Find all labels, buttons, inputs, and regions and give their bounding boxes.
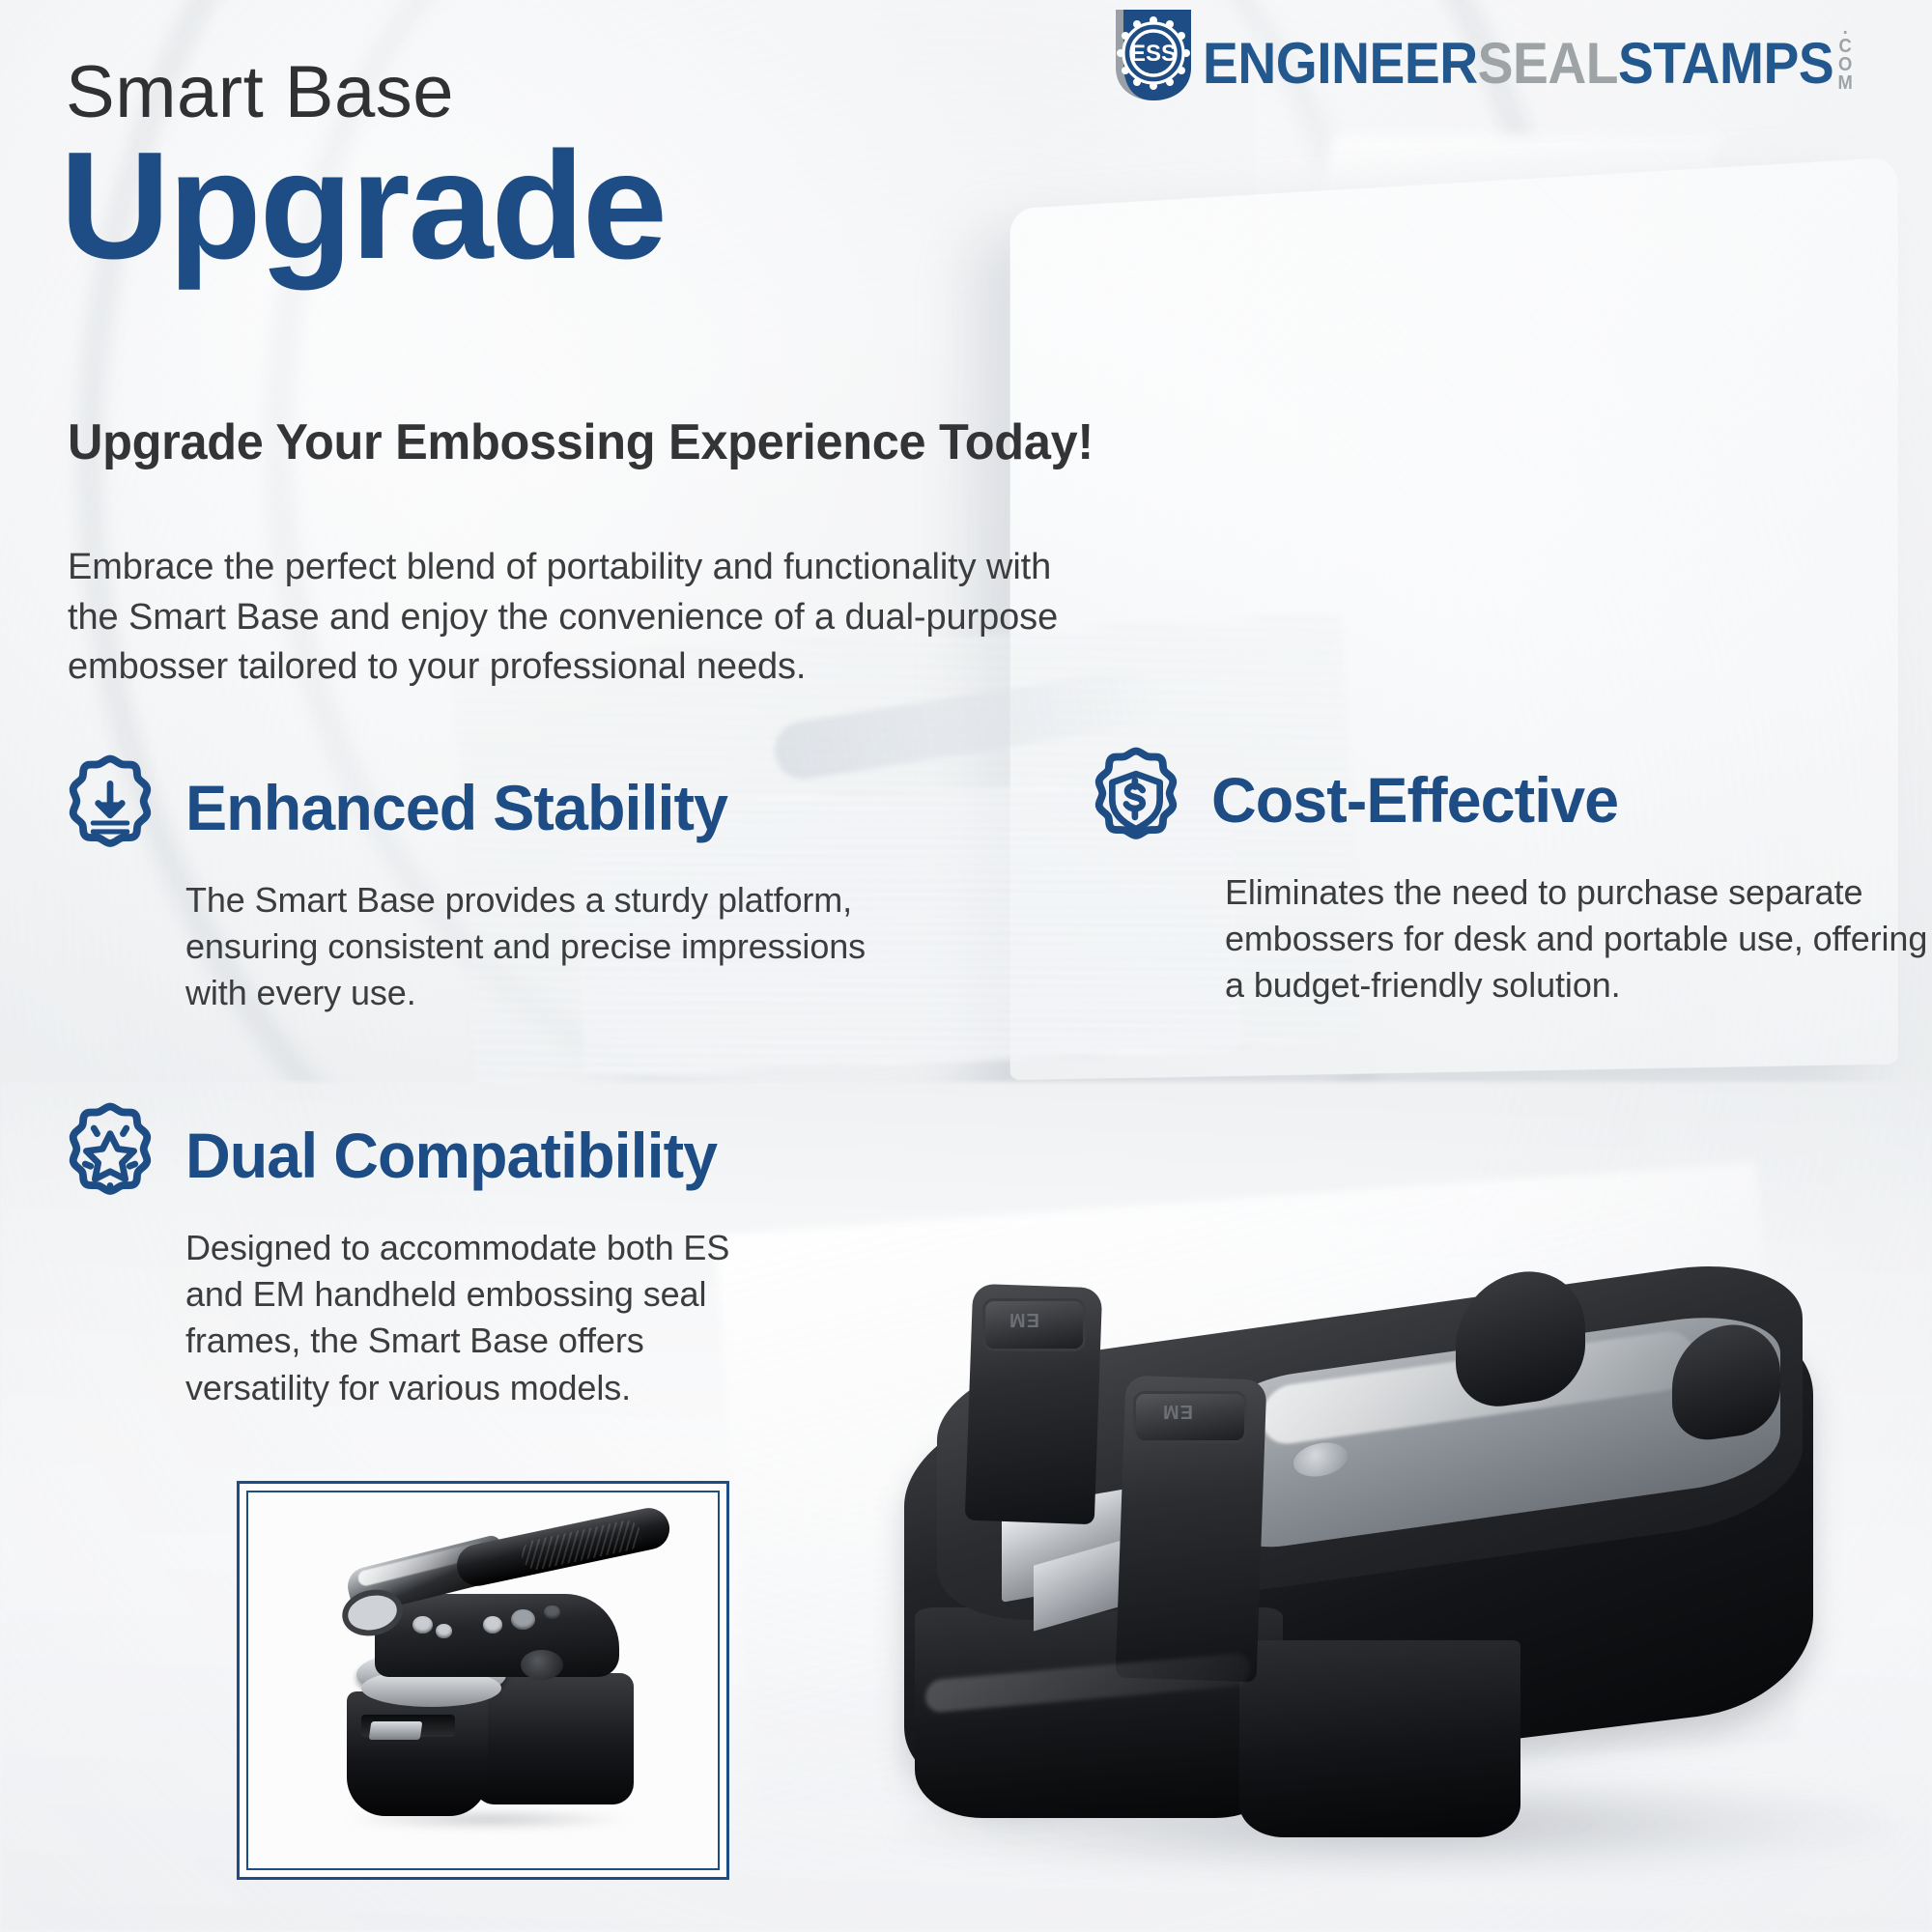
feature-header: Dual Compatibility	[56, 1101, 790, 1209]
smart-base-product-image: EM EM	[850, 1246, 1932, 1903]
embosser-clip	[369, 1721, 423, 1740]
seal-shield-dollar-icon	[1082, 746, 1190, 854]
feature-header: Enhanced Stability	[56, 753, 896, 862]
product-foot-right	[1239, 1640, 1520, 1837]
brand-logo[interactable]: ESS ENGINEER SEAL STAMPS .COM	[1114, 8, 1911, 102]
inset-product-frame	[237, 1481, 729, 1880]
feature-header: Cost-Effective	[1082, 746, 1932, 854]
feature-body: The Smart Base provides a sturdy platfor…	[185, 877, 896, 1017]
embosser-base-left	[347, 1691, 488, 1815]
feature-cost-effective: Cost-Effective Eliminates the need to pu…	[1082, 746, 1932, 1009]
feature-title: Cost-Effective	[1211, 768, 1618, 832]
inset-product-photo	[246, 1491, 720, 1870]
hero-headline: Upgrade	[60, 124, 666, 289]
feature-dual-compatibility: Dual Compatibility Designed to accommoda…	[56, 1101, 790, 1411]
embosser-rivet	[544, 1605, 560, 1620]
feature-title: Enhanced Stability	[185, 776, 727, 839]
embosser-rivet	[436, 1624, 452, 1638]
feature-enhanced-stability: Enhanced Stability The Smart Base provid…	[56, 753, 896, 1017]
logo-word-stamps: STAMPS	[1618, 35, 1833, 93]
embosser-frame-body	[375, 1594, 619, 1677]
hero-intro-paragraph: Embrace the perfect blend of portability…	[68, 543, 1082, 693]
seal-download-arrow-icon	[56, 753, 164, 862]
brand-wordmark: ENGINEER SEAL STAMPS .COM	[1203, 17, 1854, 93]
embosser-knob	[521, 1650, 563, 1680]
feature-title: Dual Compatibility	[185, 1123, 717, 1187]
product-clip-label-front: EM	[1162, 1400, 1193, 1422]
logo-word-seal: SEAL	[1478, 35, 1618, 93]
hero-subheading: Upgrade Your Embossing Experience Today!	[68, 413, 1094, 471]
ess-badge-text: ESS	[1130, 41, 1177, 67]
feature-body: Eliminates the need to purchase separate…	[1225, 869, 1932, 1009]
seal-sparkle-star-icon	[56, 1101, 164, 1209]
logo-word-engineer: ENGINEER	[1203, 35, 1478, 93]
handheld-embosser-illustration	[248, 1492, 718, 1868]
feature-body: Designed to accommodate both ES and EM h…	[185, 1225, 790, 1411]
embosser-rivet	[412, 1616, 432, 1634]
logo-word-tld: .COM	[1836, 17, 1854, 91]
product-clip-label-back: EM	[1009, 1308, 1039, 1330]
promo-graphic: ESS ENGINEER SEAL STAMPS .COM Smart Base…	[0, 0, 1932, 1932]
ess-badge-icon: ESS	[1114, 8, 1193, 102]
